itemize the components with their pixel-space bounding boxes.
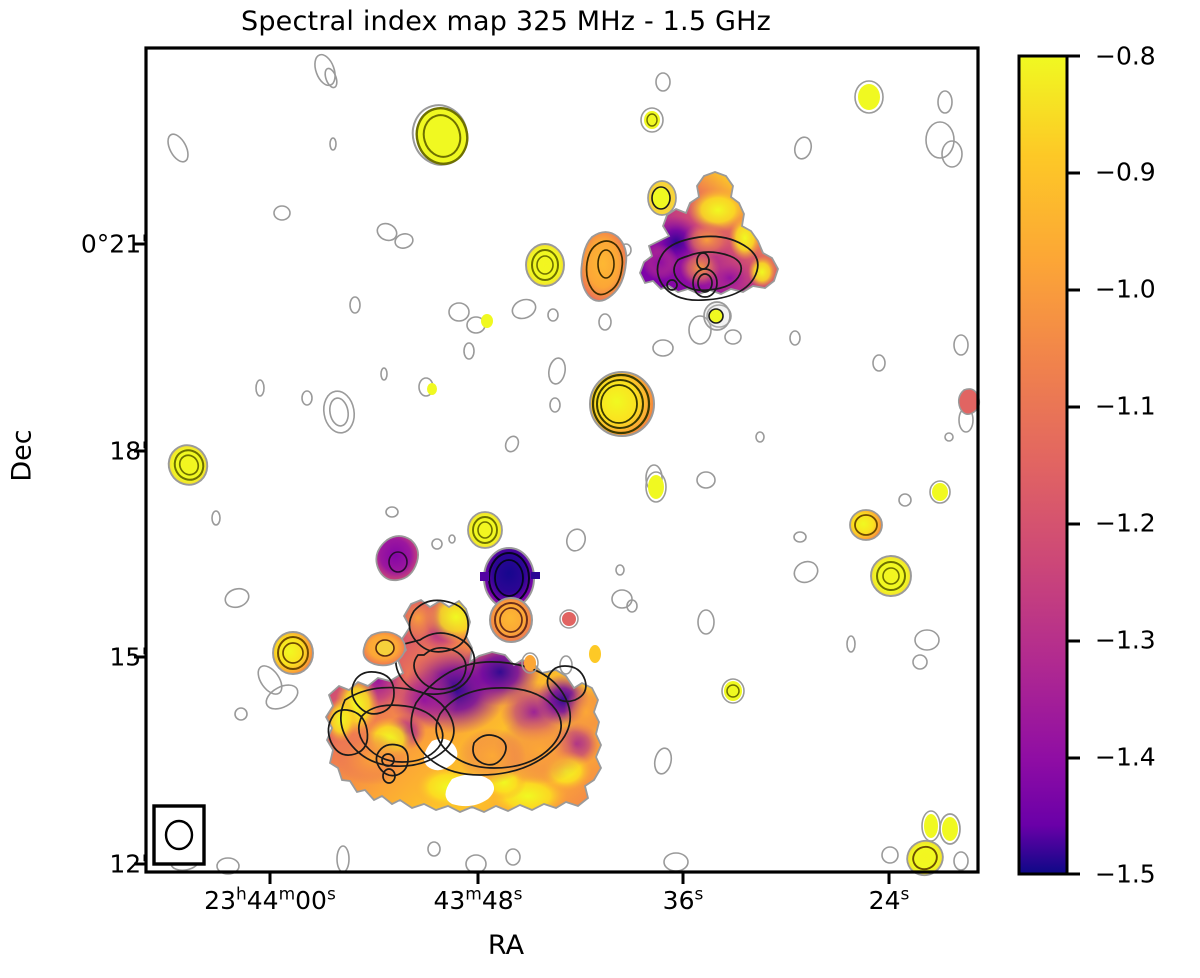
east-compact-source (850, 510, 882, 540)
colorbar-ticks (1067, 56, 1080, 874)
beam-ellipse (166, 821, 192, 849)
mid-field-source-10 (641, 108, 663, 132)
colorbar (1019, 56, 1080, 874)
southeast-small-source (940, 814, 960, 844)
east-compact-source-2 (871, 556, 911, 596)
map-canvas (0, 0, 1200, 978)
mid-field-source-7 (589, 645, 601, 663)
relic-south-companion (704, 302, 730, 330)
mid-field-source-2 (722, 679, 744, 703)
colorbar-gradient (1019, 56, 1067, 874)
synthesized-beam-box (154, 806, 204, 864)
southwest-compact-source (273, 632, 313, 674)
mid-field-source-6 (522, 653, 538, 673)
relic-companion-source (648, 181, 676, 215)
mid-field-source-4 (427, 383, 437, 395)
mid-field-source-5 (560, 610, 578, 628)
map-plot-area (134, 48, 979, 884)
far-east-edge-source (959, 389, 980, 414)
bright-central-point-source (590, 372, 654, 436)
mid-field-source-1 (646, 472, 666, 502)
spectral-index-figure: Spectral index map 325 MHz - 1.5 GHz RA … (0, 0, 1200, 978)
compact-source-ne (526, 244, 564, 286)
mid-field-source-8 (855, 81, 883, 113)
halo-west-source (363, 632, 405, 665)
halo-north-point-source (468, 512, 502, 548)
east-small-source (930, 481, 950, 503)
orange-compact-source (490, 598, 532, 642)
mid-field-source-3 (481, 314, 493, 328)
mid-field-source-9 (922, 811, 940, 841)
